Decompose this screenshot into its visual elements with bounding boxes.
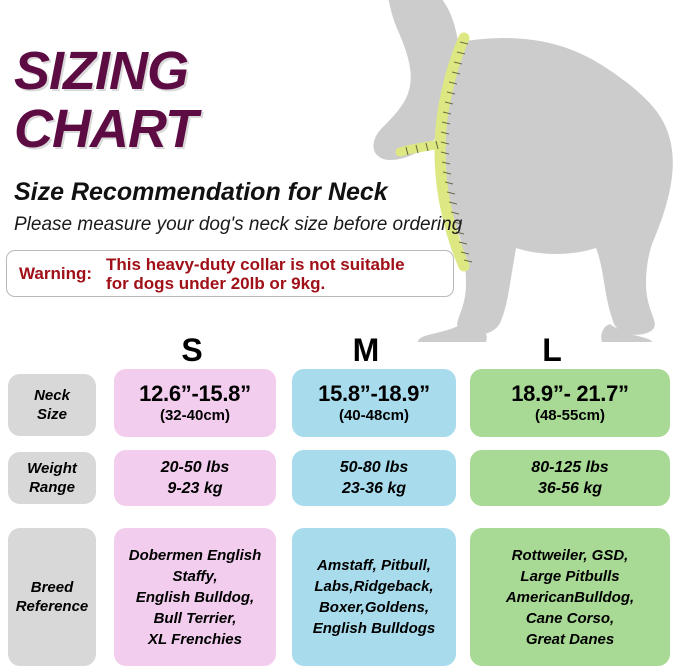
weight-range-s-kg: 9-23 kg bbox=[167, 478, 222, 499]
size-header-l: L bbox=[542, 332, 562, 369]
weight-range-l-kg: 36-56 kg bbox=[538, 478, 602, 499]
breed-s-line-4: Bull Terrier, bbox=[154, 608, 237, 629]
sizing-chart-page: SIZING CHART Size Recommendation for Nec… bbox=[0, 0, 679, 672]
row-label-weight-range-line2: Range bbox=[29, 478, 75, 497]
cell-weight-range-l: 80-125 lbs 36-56 kg bbox=[470, 450, 670, 506]
neck-size-l-inches: 18.9”- 21.7” bbox=[511, 381, 628, 406]
size-header-s: S bbox=[181, 332, 202, 369]
subtitle: Size Recommendation for Neck bbox=[14, 178, 388, 207]
page-title: SIZING CHART bbox=[14, 42, 434, 158]
row-label-neck-size: Neck Size bbox=[8, 374, 96, 436]
cell-weight-range-m: 50-80 lbs 23-36 kg bbox=[292, 450, 456, 506]
breed-l-line-3: AmericanBulldog, bbox=[506, 587, 634, 608]
breed-s-line-5: XL Frenchies bbox=[148, 629, 242, 650]
warning-box: Warning: This heavy-duty collar is not s… bbox=[6, 250, 454, 297]
row-label-weight-range-line1: Weight bbox=[27, 459, 77, 478]
cell-breed-reference-l: Rottweiler, GSD, Large Pitbulls American… bbox=[470, 528, 670, 666]
title-line-chart: CHART bbox=[14, 100, 434, 158]
title-line-sizing: SIZING bbox=[14, 42, 434, 100]
weight-range-s-lbs: 20-50 lbs bbox=[161, 457, 229, 478]
breed-m-line-3: Boxer,Goldens, bbox=[319, 597, 429, 618]
cell-breed-reference-m: Amstaff, Pitbull, Labs,Ridgeback, Boxer,… bbox=[292, 528, 456, 666]
cell-neck-size-s: 12.6”-15.8” (32-40cm) bbox=[114, 369, 276, 437]
neck-size-s-inches: 12.6”-15.8” bbox=[139, 381, 251, 406]
weight-range-m-lbs: 50-80 lbs bbox=[340, 457, 408, 478]
breed-m-line-1: Amstaff, Pitbull, bbox=[317, 555, 431, 576]
row-label-weight-range: Weight Range bbox=[8, 452, 96, 504]
weight-range-m-kg: 23-36 kg bbox=[342, 478, 406, 499]
warning-message: This heavy-duty collar is not suitable f… bbox=[106, 255, 405, 293]
row-label-neck-size-line1: Neck bbox=[34, 386, 70, 405]
cell-neck-size-m: 15.8”-18.9” (40-48cm) bbox=[292, 369, 456, 437]
size-header-m: M bbox=[353, 332, 380, 369]
neck-size-m-cm: (40-48cm) bbox=[339, 406, 409, 425]
breed-l-line-2: Large Pitbulls bbox=[520, 566, 619, 587]
row-label-breed-reference-line1: Breed bbox=[31, 578, 74, 597]
breed-l-line-1: Rottweiler, GSD, bbox=[512, 545, 629, 566]
row-label-breed-reference-line2: Reference bbox=[16, 597, 89, 616]
neck-size-l-cm: (48-55cm) bbox=[535, 406, 605, 425]
warning-label: Warning: bbox=[19, 264, 92, 284]
weight-range-l-lbs: 80-125 lbs bbox=[531, 457, 608, 478]
cell-breed-reference-s: Dobermen English Staffy, English Bulldog… bbox=[114, 528, 276, 666]
breed-l-line-4: Cane Corso, bbox=[526, 608, 614, 629]
breed-m-line-2: Labs,Ridgeback, bbox=[314, 576, 433, 597]
row-label-neck-size-line2: Size bbox=[37, 405, 67, 424]
breed-m-line-4: English Bulldogs bbox=[313, 618, 436, 639]
instruction-text: Please measure your dog's neck size befo… bbox=[14, 214, 462, 236]
neck-size-s-cm: (32-40cm) bbox=[160, 406, 230, 425]
warning-line-2: for dogs under 20lb or 9kg. bbox=[106, 274, 325, 293]
cell-weight-range-s: 20-50 lbs 9-23 kg bbox=[114, 450, 276, 506]
warning-line-1: This heavy-duty collar is not suitable bbox=[106, 255, 405, 274]
neck-size-m-inches: 15.8”-18.9” bbox=[318, 381, 430, 406]
row-label-breed-reference: Breed Reference bbox=[8, 528, 96, 666]
cell-neck-size-l: 18.9”- 21.7” (48-55cm) bbox=[470, 369, 670, 437]
breed-l-line-5: Great Danes bbox=[526, 629, 614, 650]
breed-s-line-2: Staffy, bbox=[172, 566, 217, 587]
breed-s-line-3: English Bulldog, bbox=[136, 587, 254, 608]
breed-s-line-1: Dobermen English bbox=[129, 545, 262, 566]
